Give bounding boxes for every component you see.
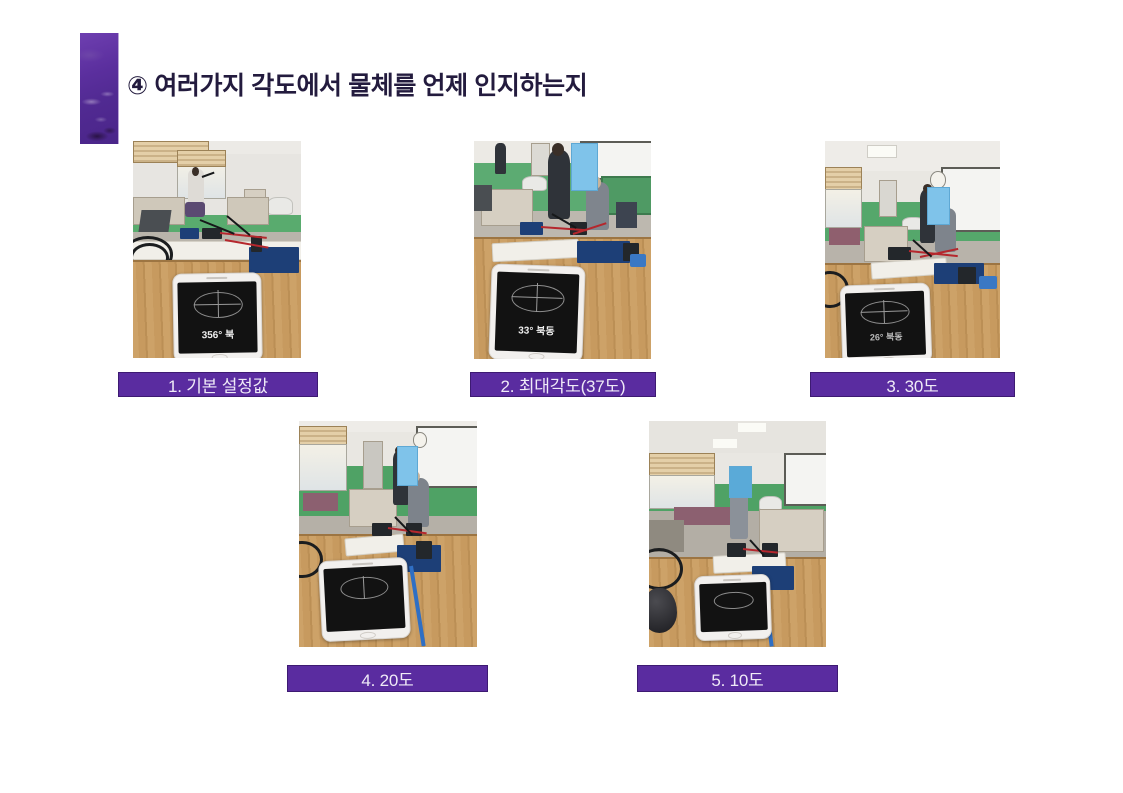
smartphone-1: 356° 북 xyxy=(173,273,264,358)
ultrasonic-sensor xyxy=(630,254,646,267)
phone-screen: 33° 북동 xyxy=(494,272,580,354)
classroom-window xyxy=(649,475,715,509)
photo-1: 356° 북 xyxy=(133,141,301,358)
blue-target-board xyxy=(729,466,752,497)
classroom-window xyxy=(299,444,347,491)
laptop xyxy=(138,210,171,232)
low-cabinet xyxy=(349,489,397,527)
photo-3: 26° 북동 xyxy=(825,141,1000,358)
chair xyxy=(185,202,205,217)
window-blind xyxy=(177,150,226,167)
purple-texture-bar xyxy=(80,33,119,144)
compass-heading-text: 33° 북동 xyxy=(495,320,578,338)
earpiece xyxy=(874,288,895,290)
photo-5-scene xyxy=(649,421,826,647)
bench xyxy=(829,228,861,245)
smartphone-4 xyxy=(318,557,411,643)
sensor-module-left xyxy=(372,523,392,537)
person-standing-center xyxy=(548,150,569,220)
photo-4-scene xyxy=(299,421,477,647)
person-background-left xyxy=(495,143,506,174)
mirror xyxy=(879,180,897,217)
photo-3-scene: 26° 북동 xyxy=(825,141,1000,358)
phone-screen xyxy=(324,565,406,632)
photo-2: 33° 북동 xyxy=(474,141,651,359)
photo-2-scene: 33° 북동 xyxy=(474,141,651,359)
caption-2: 2. 최대각도(37도) xyxy=(470,372,656,397)
compass-dial xyxy=(714,591,754,610)
sensor-module-left xyxy=(888,247,911,260)
mirror xyxy=(363,441,383,488)
blue-target-board xyxy=(927,187,950,226)
person-head xyxy=(192,167,199,176)
bench xyxy=(303,493,339,511)
phone-screen xyxy=(699,581,768,631)
home-button xyxy=(880,357,896,358)
page-title: ④ 여러가지 각도에서 물체를 언제 인지하는지 xyxy=(127,66,587,102)
classroom-window xyxy=(825,189,862,228)
compass-dial xyxy=(194,292,244,319)
home-button xyxy=(728,632,742,640)
blue-target-board xyxy=(397,446,419,486)
compass-heading-text xyxy=(326,604,404,608)
caption-3: 3. 30도 xyxy=(810,372,1015,397)
wood-blind xyxy=(649,453,715,478)
smartphone-5 xyxy=(694,573,773,641)
dark-furniture xyxy=(474,185,492,211)
wood-blind xyxy=(825,167,862,191)
caption-1: 1. 기본 설정값 xyxy=(118,372,318,397)
sensor-module-left xyxy=(180,228,198,239)
sink xyxy=(267,197,293,214)
phone-screen: 26° 북동 xyxy=(845,291,926,358)
earpiece xyxy=(353,563,374,566)
phone-screen: 356° 북 xyxy=(178,281,258,354)
home-button xyxy=(212,354,228,358)
ceiling-light xyxy=(867,145,897,158)
smartphone-2: 33° 북동 xyxy=(488,264,585,359)
servo-motor xyxy=(416,541,432,559)
compass-heading-text xyxy=(700,611,767,613)
blue-target-board xyxy=(571,143,598,191)
chair-right xyxy=(616,202,637,228)
arduino-board xyxy=(577,241,630,263)
sensor-module-left xyxy=(520,222,543,235)
compass-heading-text: 356° 북 xyxy=(179,326,258,342)
earpiece xyxy=(527,269,549,272)
ultrasonic-sensor xyxy=(979,276,997,289)
home-button xyxy=(360,631,376,639)
smartphone-3: 26° 북동 xyxy=(839,283,931,358)
photo-4 xyxy=(299,421,477,647)
home-button xyxy=(528,353,545,359)
caption-5: 5. 10도 xyxy=(637,665,838,692)
ceiling-light-2 xyxy=(713,439,738,448)
earpiece xyxy=(723,579,741,581)
photo-1-scene: 356° 북 xyxy=(133,141,301,358)
earpiece xyxy=(207,278,228,280)
whiteboard xyxy=(784,453,826,507)
caption-4: 4. 20도 xyxy=(287,665,488,692)
ceiling-light-1 xyxy=(738,423,766,432)
compass-heading-text: 26° 북동 xyxy=(846,329,925,345)
wood-blind xyxy=(299,426,347,446)
servo-motor xyxy=(958,267,976,284)
photo-5 xyxy=(649,421,826,647)
